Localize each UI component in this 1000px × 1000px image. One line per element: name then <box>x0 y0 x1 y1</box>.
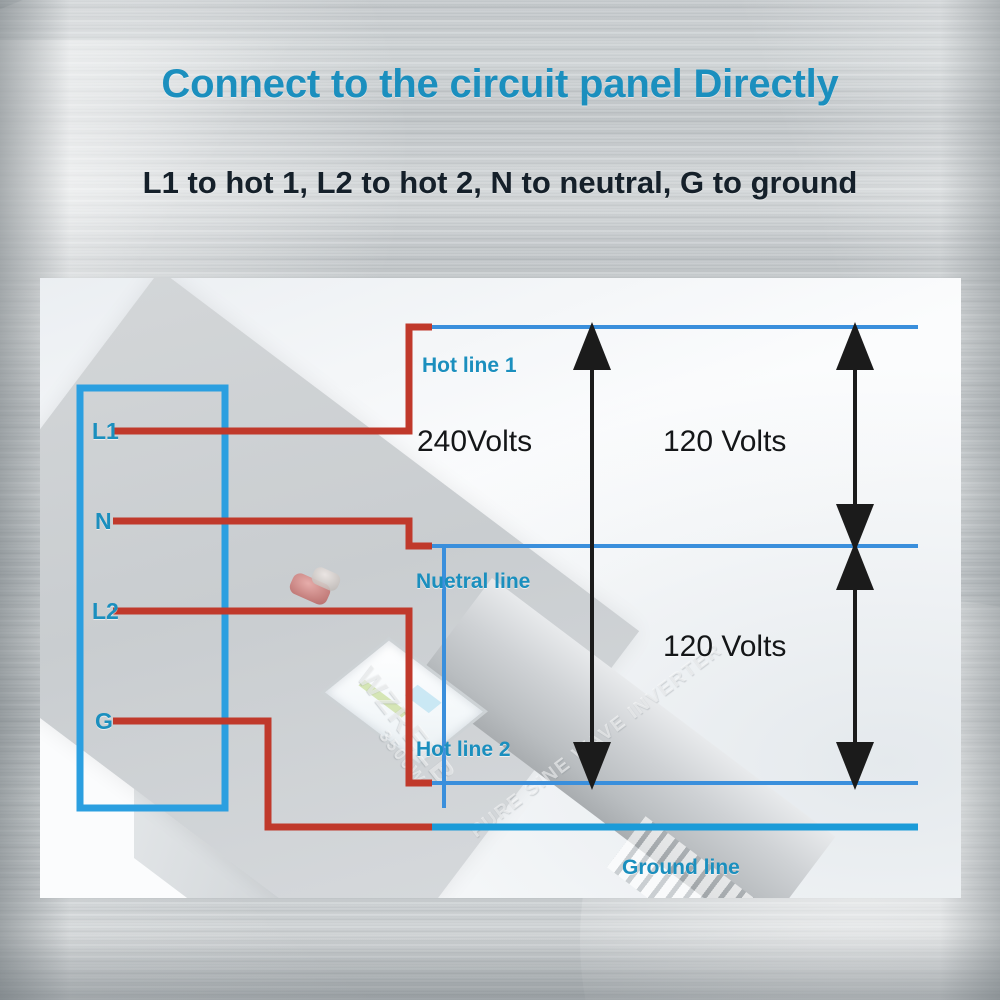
dimension-240v-arrowhead-top <box>573 322 611 370</box>
metal-shadow-bottom <box>0 930 1000 1000</box>
dimension-120v-upper-arrowhead-top <box>836 322 874 370</box>
product-infographic: Connect to the circuit panel Directly L1… <box>0 0 1000 1000</box>
dimension-120v-lower-arrowhead-top <box>836 542 874 590</box>
wiring-diagram-panel: WZRELB 3500W PURE SINE WAVE INVERTER <box>40 278 961 898</box>
page-subtitle: L1 to hot 1, L2 to hot 2, N to neutral, … <box>0 165 1000 201</box>
breaker-panel-outline <box>80 388 225 808</box>
wire-l1 <box>113 327 432 431</box>
wire-neutral <box>113 521 432 546</box>
page-title: Connect to the circuit panel Directly <box>0 62 1000 107</box>
wire-l2 <box>113 611 432 783</box>
wiring-schematic <box>40 278 961 898</box>
